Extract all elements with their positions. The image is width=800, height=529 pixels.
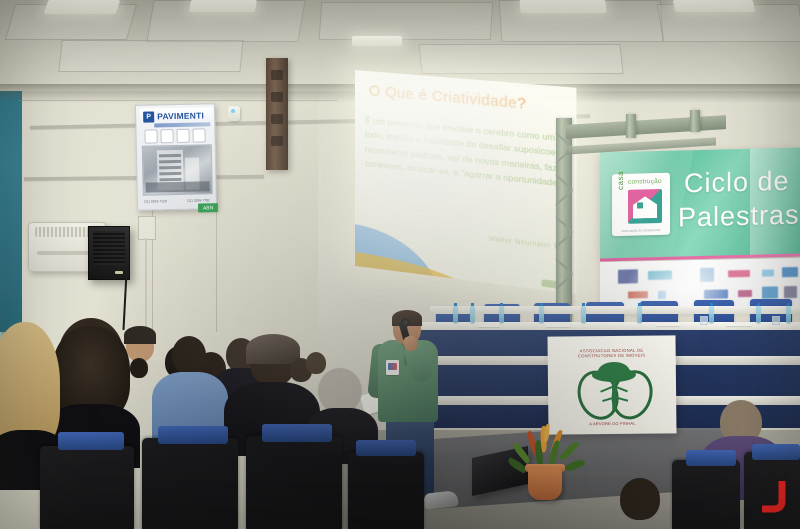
ceiling-panel [418, 44, 623, 74]
water-bottle [499, 306, 504, 323]
banner-title-line1: Ciclo de [684, 166, 790, 200]
poster-certification-badge [192, 128, 205, 142]
logo-word-construcao: construção [628, 178, 662, 186]
sensor-led-icon [231, 109, 235, 113]
table-paper [656, 322, 680, 326]
poster-certification-badge [144, 129, 157, 143]
wall-speaker-column [266, 58, 288, 170]
audience-head [620, 478, 660, 520]
water-bottle [637, 306, 642, 323]
drinking-glass [772, 316, 780, 325]
association-table-banner: ASSOCIACAO NACIONAL DE CONSTRUTORES DE I… [547, 335, 676, 434]
poster-certification-badge [160, 129, 173, 143]
logo-footer-text: associação de construtores [616, 228, 666, 233]
sponsor-logo [738, 290, 752, 297]
auditorium-seat-rail [356, 440, 416, 456]
audience-head [172, 336, 206, 374]
sponsor-logo [782, 267, 798, 277]
slide-credit: Walter Neumann 1991 [444, 230, 572, 252]
poster-subtitle-bar [154, 122, 210, 127]
auditorium-seat-rail [58, 432, 124, 450]
badge-logo-icon [388, 363, 397, 370]
ceiling-panel [58, 40, 243, 72]
auditorium-seat [40, 446, 134, 529]
auditorium-seat [348, 452, 424, 529]
audience-head [130, 358, 148, 378]
table-paper [546, 323, 570, 327]
ceiling-light [673, 0, 756, 12]
projection-screen: O Que é Criatividade? É um processo que … [355, 70, 576, 294]
audience-head [306, 352, 326, 374]
speaker-grille-icon [93, 231, 125, 265]
house-icon [628, 189, 662, 224]
water-bottle [581, 306, 586, 323]
speaker-badge [115, 271, 123, 274]
auditorium-seat-rail [262, 424, 332, 442]
house-window-icon [637, 202, 643, 208]
table-banner-caption: A ARVORE DO PINHAL [582, 421, 642, 427]
slide-title-text: O Que é Criatividade [369, 83, 517, 112]
motion-sensor [228, 106, 240, 121]
wall-trim [18, 100, 338, 101]
water-bottle [453, 306, 458, 323]
event-banner: construção casa associação de construtor… [600, 148, 800, 261]
pa-speaker [88, 226, 130, 280]
ceiling-light [44, 0, 121, 14]
poster-certification-badge [176, 129, 189, 143]
table-paper [478, 323, 500, 327]
casa-construcao-logo: construção casa associação de construtor… [612, 173, 670, 236]
flower-pot [528, 468, 562, 500]
auditorium-seat [672, 460, 740, 529]
drinking-glass [700, 316, 708, 325]
wall-conduit-pipe [145, 238, 147, 330]
ac-airflow-slot [37, 251, 95, 255]
poster-phone-left: (11) 3263-7120 [144, 199, 167, 203]
presenter-name-badge [386, 360, 399, 375]
water-bottle [470, 306, 475, 323]
auditorium-seat [142, 438, 238, 529]
wall-junction-box [138, 216, 156, 240]
slide-body-text: É um processo que envolve o cerebro como… [365, 113, 570, 192]
sponsor-logo [762, 286, 778, 298]
ceiling-light [519, 0, 606, 13]
water-bottle [709, 306, 714, 323]
banner-title-line2: Palestras [678, 200, 800, 234]
auditorium-seat-rail [752, 444, 800, 460]
water-bottle [756, 306, 761, 323]
sponsor-logo [784, 286, 797, 298]
pavimenti-poster: P PAVIMENTI (11) 3263-7120 (11) 3526-778… [135, 103, 217, 211]
cursor-red-j-mark[interactable] [758, 479, 790, 513]
microphone-head-icon [401, 318, 410, 327]
audience-gray-hair [246, 334, 300, 364]
logo-word-casa: casa [616, 171, 625, 190]
sponsor-logo [762, 269, 774, 276]
poster-logo-mark: P [143, 111, 154, 122]
auditorium-seat [246, 436, 342, 529]
truss-post [626, 114, 636, 138]
ceiling-light [189, 0, 257, 12]
auditorium-seat-rail [686, 450, 736, 466]
poster-corner-badge: ABN [198, 203, 218, 212]
table-rear-surface [430, 306, 800, 314]
table-paper [726, 322, 752, 326]
ceiling-panel [319, 2, 494, 40]
poster-brand-name: PAVIMENTI [157, 110, 204, 121]
water-bottle [539, 306, 544, 323]
poster-phone-right: (11) 3526-7782 [187, 198, 210, 202]
auditorium-seat-rail [158, 426, 228, 444]
slide-title: O Que é Criatividade? [369, 83, 568, 116]
lecture-hall-photo: O Que é Criatividade? É um processo que … [0, 0, 800, 529]
truss-post [690, 110, 700, 132]
water-bottle [786, 306, 791, 323]
ceiling-light [352, 36, 402, 46]
slide-title-question-mark: ? [517, 96, 526, 113]
poster-building-photo [142, 144, 213, 195]
audience-hair [124, 326, 156, 344]
